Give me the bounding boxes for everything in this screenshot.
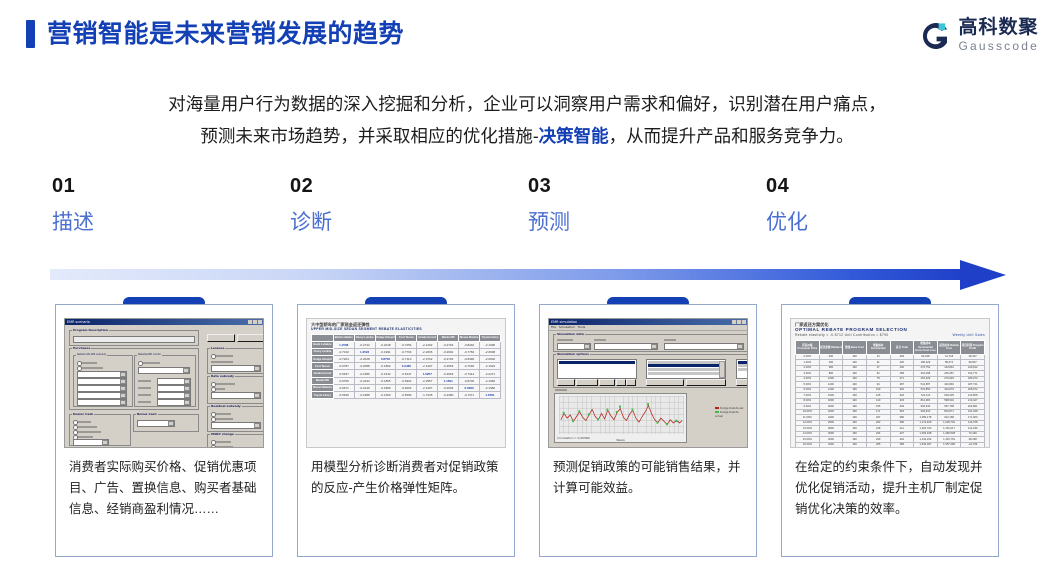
group-program-description: Program Description <box>69 330 199 346</box>
list-item[interactable] <box>648 361 724 364</box>
cell: -0.2669 <box>438 363 459 370</box>
save-button[interactable] <box>207 334 235 342</box>
card-1-describe: EMR scenario Program Description Purchas… <box>55 304 273 557</box>
series-actual-markers <box>563 403 677 425</box>
remove-button[interactable] <box>576 379 598 386</box>
column-header: Honda Accord <box>417 334 438 341</box>
cell: -0.7766 <box>459 348 480 355</box>
arrow-shaft <box>50 269 966 280</box>
cell: -0.2794 <box>438 356 459 363</box>
scenario-listbox[interactable] <box>557 359 637 379</box>
row-header: Nissan Maxima <box>312 384 334 391</box>
row-header: Dodge Intrepid <box>312 356 334 363</box>
group-bonus-cash: Bonus Cash <box>133 414 199 432</box>
legend-entry: Dodge Dakota actual <box>715 411 745 419</box>
menu-simulation[interactable]: Simulation <box>559 325 575 329</box>
cell: 265 <box>866 442 890 448</box>
lead-paragraph: 对海量用户行为数据的深入挖掘和分析，企业可以洞察用户需求和偏好，识别潜在用户痛点… <box>52 88 1002 152</box>
subgroup-label: Rebate ON APR subvedy <box>76 353 107 356</box>
step-row: 01 描述 02 诊断 03 预测 04 优化 <box>52 176 1004 233</box>
column-header: 返还金额 Rebate $ <box>819 340 843 354</box>
term-36-combo[interactable] <box>77 385 127 392</box>
cell: -1.7436 <box>417 392 438 399</box>
card-row: EMR scenario Program Description Purchas… <box>55 297 1000 559</box>
cell: 1.1568 <box>333 341 354 348</box>
dialog-title: EMR scenario <box>67 320 90 324</box>
step-label: 诊断 <box>290 212 528 233</box>
radio-label <box>77 436 93 438</box>
chart-series <box>559 396 684 434</box>
cell: -0.5645 <box>333 392 354 399</box>
radio-label <box>81 362 97 364</box>
step-number: 01 <box>52 176 290 196</box>
group-msrp-change: MSRP change <box>207 434 264 448</box>
chart-legend: Dodge Dakota est. Dodge Dakota actual <box>715 407 745 419</box>
cell: -0.1991 <box>375 348 396 355</box>
group-label: Bonus Cash <box>136 412 158 416</box>
legend-swatch-estimated <box>715 407 719 409</box>
models-listbox[interactable] <box>646 359 726 379</box>
radio-label <box>215 446 233 448</box>
cell: -0.8240 <box>459 341 480 348</box>
row-header: Buick LeSabre <box>312 341 334 348</box>
column-header: 返还成本 Rebate Cost <box>937 340 961 354</box>
group-label: MSRP change <box>210 432 235 436</box>
cell: -0.2028 <box>354 356 375 363</box>
cell: -0.1860 <box>375 363 396 370</box>
card-2-screenshot: 大中型轿车的厂家现金返还弹性 UPPER MID-SIZE SEDAN SEGM… <box>306 318 506 448</box>
term-label-24 <box>138 380 151 382</box>
column-header: Ford Taurus <box>396 334 417 341</box>
group-label: Lessees <box>210 346 225 350</box>
cell: -0.1869 <box>375 384 396 391</box>
rebate-amount-combo[interactable] <box>77 371 127 378</box>
menu-file[interactable]: File <box>551 325 556 329</box>
cell: -0.7030 <box>459 363 480 370</box>
column-header: 实际价格 Consumer Price <box>796 340 820 354</box>
table-row: Dodge Intrepid -0.7204 -0.2028 0.8752 -0… <box>312 356 501 363</box>
cell: -2.1923 <box>480 363 501 370</box>
cell: -2.1497 <box>417 363 438 370</box>
term-label-36 <box>138 387 151 389</box>
cell: -0.6589 <box>396 392 417 399</box>
column-header: 总计 Total <box>890 340 914 354</box>
list-item[interactable] <box>559 361 635 364</box>
column-header: 增量成本 Incremental <box>866 340 890 354</box>
cell: 1.0257 <box>417 370 438 377</box>
group-purchases: Purchases Rebate ON APR subvedy <box>69 348 199 410</box>
card-4-optimize: 厂家返还方案优化 OPTIMAL REBATE PROGRAM SELECTIO… <box>781 304 999 557</box>
cell: -0.7110 <box>396 356 417 363</box>
listbox-scrollbar[interactable] <box>719 361 724 378</box>
table-header-row: 实际价格 Consumer Price 返还金额 Rebate $ 数量 Bas… <box>796 340 985 354</box>
step-number: 03 <box>528 176 766 196</box>
cell: -2.2192 <box>417 341 438 348</box>
cell: -0.2794 <box>438 341 459 348</box>
cell: 1,534,487 <box>914 442 938 448</box>
row-header: Ford Taurus <box>312 363 334 370</box>
cell: -2.1660 <box>480 377 501 384</box>
cell: -0.6062 <box>396 384 417 391</box>
combo-36-rate[interactable] <box>157 385 191 392</box>
group-simulation-data: Simulation data <box>553 334 748 352</box>
arrow-head-icon <box>960 260 1006 290</box>
lead-line-2b: ，从而提升产品和服务竞争力。 <box>609 126 854 146</box>
program-description-input[interactable] <box>73 336 195 343</box>
dialog-title: EMR simulation <box>551 320 577 324</box>
cell: -0.1642 <box>375 370 396 377</box>
cell: -2.1982 <box>480 384 501 391</box>
card-4-caption: 在给定的约束条件下，自动发现并优化促销活动，提升主机厂制定促销优化决策的效率。 <box>795 457 987 520</box>
cell: 1.1591 <box>438 377 459 384</box>
vehicle-class-label <box>557 339 573 341</box>
elasticity-table: Buick LeSabre Chevy Lumina Dodge Intrepi… <box>311 334 501 399</box>
table-row: Mazda 626 -0.6766 -0.2233 -0.1895 -0.690… <box>312 377 501 384</box>
group-label: Simulation data <box>556 332 585 336</box>
optimal-rebate-table-shot: 厂家返还方案优化 OPTIMAL REBATE PROGRAM SELECTIO… <box>791 319 989 447</box>
column-header: Buick LeSabre <box>333 334 354 341</box>
cell: -2.3702 <box>417 356 438 363</box>
region-combo[interactable] <box>664 343 744 350</box>
legend-label: Dodge Dakota est. <box>720 407 744 410</box>
title-accent-bar <box>26 20 35 48</box>
cell: -2.2271 <box>480 370 501 377</box>
term-label-48 <box>138 394 151 396</box>
group-rate-subvedy: Rate subvedy <box>207 376 264 404</box>
cell: -0.1660 <box>375 392 396 399</box>
radio-label <box>142 362 160 364</box>
corner-note: Weekly Unit Sales <box>952 333 985 338</box>
emr-scenario-dialog: EMR scenario Program Description Purchas… <box>65 319 263 447</box>
subtitle-text: Rebate elasticity = -0.8712 Unit Contrib… <box>795 333 888 337</box>
card-1-screenshot: EMR scenario Program Description Purchas… <box>64 318 264 448</box>
column-header: 项目利润 Program Profit <box>961 340 985 354</box>
radio-label <box>215 355 233 357</box>
lessee-cash-label <box>211 361 233 363</box>
term-60-combo[interactable] <box>77 399 127 406</box>
cell: -0.5497 <box>333 370 354 377</box>
corner-cell <box>312 334 334 341</box>
cell: -0.7310 <box>333 348 354 355</box>
cell: 0.8752 <box>375 356 396 363</box>
brand-logo: 高科数聚 Gausscode <box>917 18 1039 53</box>
card-3-caption: 预测促销政策的可能销售结果，并计算可能效益。 <box>553 457 745 499</box>
subgroup-rebate-apr-combo: Rebate/APR combo <box>134 355 196 407</box>
graph-button[interactable] <box>736 379 748 386</box>
cell: -0.7204 <box>333 356 354 363</box>
cell: -0.6787 <box>333 363 354 370</box>
cell: 0.9480 <box>396 363 417 370</box>
step-number: 02 <box>290 176 528 196</box>
radio-label <box>77 431 101 433</box>
logo-name-cn: 高科数聚 <box>958 18 1039 38</box>
gausscode-g-logo-icon <box>917 19 951 53</box>
cell: 1.2522 <box>354 348 375 355</box>
step-label: 优化 <box>766 212 1004 233</box>
cell: -0.2636 <box>438 384 459 391</box>
row-header: Toyota Camry <box>312 392 334 399</box>
cell: -2.1096 <box>480 341 501 348</box>
card-2-caption: 用模型分析诊断消费者对促销政策的反应-产生价格弹性矩阵。 <box>311 457 503 499</box>
cell: -0.6671 <box>333 384 354 391</box>
cell: -2.1207 <box>417 384 438 391</box>
table-body: 0.00%2001901320990,24841,71848,407 1.00%… <box>796 354 985 448</box>
table-row: Ford Taurus -0.6787 -0.2088 -0.1860 0.94… <box>312 363 501 370</box>
window-controls-icon <box>732 320 746 324</box>
cell: -0.2018 <box>375 341 396 348</box>
radio-label <box>81 367 103 369</box>
table-row: Honda Accord -0.5497 -0.1986 -0.1642 -0.… <box>312 370 501 377</box>
list-item[interactable] <box>738 368 748 371</box>
table-row: Toyota Camry -0.5645 -0.1988 -0.1660 -0.… <box>312 392 501 399</box>
optimal-rebate-table: 实际价格 Consumer Price 返还金额 Rebate $ 数量 Bas… <box>795 340 985 448</box>
subgroup-rebate-apr: Rebate ON APR subvedy <box>73 355 133 407</box>
step-label: 预测 <box>528 212 766 233</box>
cell: -0.2380 <box>438 392 459 399</box>
table-subtitle: Rebate elasticity = -0.8712 Unit Contrib… <box>795 333 985 338</box>
elasticity-matrix: 大中型轿车的厂家现金返还弹性 UPPER MID-SIZE SEDAN SEGM… <box>307 319 505 447</box>
card-2-diagnose: 大中型轿车的厂家现金返还弹性 UPPER MID-SIZE SEDAN SEGM… <box>297 304 515 557</box>
cell: -0.1988 <box>354 392 375 399</box>
card-3-predict: EMR simulation File Simulation Tools Sim… <box>539 304 757 557</box>
segment-label <box>594 339 606 341</box>
radio-label <box>215 388 225 390</box>
cell: -0.2149 <box>354 384 375 391</box>
cell: -0.7254 <box>396 341 417 348</box>
radio-label <box>77 421 91 423</box>
group-dealer-cash: Dealer Cash <box>69 414 131 446</box>
group-label: Rate subvedy <box>210 374 235 378</box>
add-button[interactable] <box>557 379 575 386</box>
menubar[interactable]: File Simulation Tools <box>549 325 748 331</box>
table-row: Chevy Lumina -0.7310 1.2522 -0.1991 -0.7… <box>312 348 501 355</box>
row-header: Mazda 626 <box>312 377 334 384</box>
column-header: 增量成本 Incremental Gross Cost Loss <box>914 340 938 354</box>
radio-label <box>215 441 231 443</box>
column-header: Toyota Camry <box>480 334 501 341</box>
table-row: 16.00%34001902654581,534,4871,557,286-22… <box>796 442 985 448</box>
step-item-03: 03 预测 <box>528 176 766 233</box>
column-header: 数量 Base Cost <box>843 340 867 354</box>
cell: -0.2233 <box>354 377 375 384</box>
legend-swatch-actual <box>715 411 719 413</box>
page-title: 营销智能是未来营销发展的趋势 <box>47 22 404 47</box>
term-label-60 <box>138 401 151 403</box>
card-1-caption: 消费者实际购买价格、促销优惠项目、广告、置换信息、购买者基础信息、经销商盈利情况… <box>69 457 261 520</box>
radio-label <box>77 426 97 428</box>
step-item-02: 02 诊断 <box>290 176 528 233</box>
window-controls-icon <box>248 320 262 324</box>
cell: 16.00% <box>796 442 820 448</box>
title-row: 营销智能是未来营销发展的趋势 <box>26 20 404 48</box>
table-header-row: Buick LeSabre Chevy Lumina Dodge Intrepi… <box>312 334 501 341</box>
cell: -0.7314 <box>459 370 480 377</box>
combo-amount[interactable] <box>138 367 190 374</box>
move-up-button[interactable] <box>616 379 626 386</box>
lead-highlight: 决策智能 <box>539 126 609 146</box>
card-4-screenshot: 厂家返还方案优化 OPTIMAL REBATE PROGRAM SELECTIO… <box>790 318 990 448</box>
clear-all-button[interactable] <box>686 379 726 386</box>
results-label <box>555 389 567 391</box>
step-item-04: 04 优化 <box>766 176 1004 233</box>
cell: 190 <box>843 442 867 448</box>
cell: -0.6766 <box>333 377 354 384</box>
cell: -0.8706 <box>459 377 480 384</box>
output-options-listbox[interactable] <box>736 359 748 379</box>
move-down-button[interactable] <box>626 379 636 386</box>
cell: -0.5247 <box>396 370 417 377</box>
group-label: Dealer Cash <box>72 412 94 416</box>
emr-simulation-window: EMR simulation File Simulation Tools Sim… <box>549 319 747 447</box>
cell: -2.0602 <box>480 356 501 363</box>
select-all-button[interactable] <box>646 379 684 386</box>
cell: 458 <box>890 442 914 448</box>
cell: -2.2557 <box>417 377 438 384</box>
radio-label <box>215 418 233 420</box>
column-header: Nissan Maxima <box>459 334 480 341</box>
row-header: Chevy Lumina <box>312 348 334 355</box>
combo-48-rate[interactable] <box>157 392 191 399</box>
cell: 0.6480 <box>459 384 480 391</box>
cell: -2.2606 <box>417 348 438 355</box>
cell: -0.1986 <box>354 370 375 377</box>
radio-label <box>215 413 231 415</box>
table-row: Buick LeSabre 1.1568 -0.2742 -0.2018 -0.… <box>312 341 501 348</box>
logo-text: 高科数聚 Gausscode <box>958 18 1039 53</box>
term-48-combo[interactable] <box>77 392 127 399</box>
cell: -0.2742 <box>354 341 375 348</box>
column-header: Dodge Intrepid <box>375 334 396 341</box>
bonus-cash-combo[interactable] <box>137 420 175 427</box>
lessee-cash-combo[interactable] <box>211 365 261 372</box>
cell: -2.0608 <box>480 348 501 355</box>
column-header: Mazda 626 <box>438 334 459 341</box>
cell: -22,799 <box>961 442 985 448</box>
dealer-cash-combo[interactable] <box>73 439 109 446</box>
table-row: Nissan Maxima -0.6671 -0.2149 -0.1869 -0… <box>312 384 501 391</box>
column-header: Chevy Lumina <box>354 334 375 341</box>
card-3-screenshot: EMR simulation File Simulation Tools Sim… <box>548 318 748 448</box>
group-label: Program Description <box>72 328 109 332</box>
list-item[interactable] <box>648 372 724 375</box>
table-title-en: UPPER MID-SIZE SEDAN SEGMENT REBATE ELAS… <box>311 327 501 332</box>
rate-value-combo[interactable] <box>211 392 261 399</box>
close-button[interactable] <box>237 334 264 342</box>
logo-name-en: Gausscode <box>958 39 1039 53</box>
group-lessees: Lessees <box>207 348 264 374</box>
cell: -0.2692 <box>438 348 459 355</box>
segment-combo[interactable] <box>594 343 658 350</box>
cell: -0.1895 <box>375 377 396 384</box>
lead-line-1: 对海量用户行为数据的深入挖掘和分析，企业可以洞察用户需求和偏好，识别潜在用户痛点… <box>168 94 886 114</box>
cell: -0.2088 <box>354 363 375 370</box>
dialog-titlebar: EMR scenario <box>65 319 263 325</box>
cell: -0.6904 <box>396 377 417 384</box>
group-simulation-options: Simulation options <box>553 354 748 388</box>
cell: -0.8490 <box>459 356 480 363</box>
cell: -0.7371 <box>459 392 480 399</box>
step-number: 04 <box>766 176 1004 196</box>
menu-tools[interactable]: Tools <box>578 325 585 329</box>
cell: 3400 <box>819 442 843 448</box>
residual-value-combo[interactable] <box>211 422 261 429</box>
lead-line-2a: 预测未来市场趋势，并采取相应的优化措施- <box>200 126 538 146</box>
page-header: 营销智能是未来营销发展的趋势 高科数聚 Gausscode <box>0 0 1051 72</box>
region-label <box>664 339 676 341</box>
group-label: Residual subvedy <box>210 404 242 408</box>
group-label: Purchases <box>72 346 91 350</box>
row-header: Honda Accord <box>312 370 334 377</box>
progress-arrow <box>50 260 1006 290</box>
group-residual-subvedy: Residual subvedy <box>207 406 264 432</box>
combo-24-rate[interactable] <box>157 378 191 385</box>
step-item-01: 01 描述 <box>52 176 290 233</box>
cell: -0.2093 <box>438 370 459 377</box>
step-label: 描述 <box>52 212 290 233</box>
group-label: Simulation options <box>556 352 590 356</box>
series-estimated <box>561 406 682 425</box>
cell: 1.2561 <box>480 392 501 399</box>
correlation-footnote: (Correlation = 0.96366) <box>557 436 590 440</box>
cell: 1,557,286 <box>937 442 961 448</box>
edit-button[interactable] <box>599 379 615 386</box>
radio-label <box>215 383 235 385</box>
term-24-combo[interactable] <box>77 378 127 385</box>
combo-60-rate[interactable] <box>157 399 191 406</box>
vehicle-class-combo[interactable] <box>557 343 591 350</box>
cell: -0.7793 <box>396 348 417 355</box>
subgroup-label: Rebate/APR combo <box>137 353 162 356</box>
